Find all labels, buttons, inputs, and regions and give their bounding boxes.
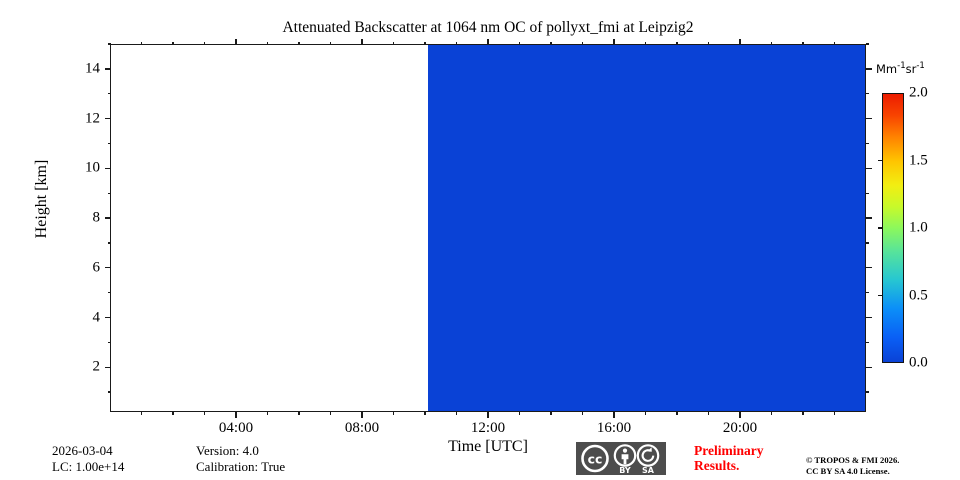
y-axis-tick-right [866, 118, 872, 119]
x-axis-tick [771, 412, 772, 416]
x-axis-tick [235, 412, 236, 418]
y-axis-tick-right [866, 267, 872, 268]
figure-canvas: Attenuated Backscatter at 1064 nm OC of … [0, 0, 960, 480]
x-axis-tick [393, 412, 394, 416]
x-axis-tick-top [708, 42, 709, 46]
x-axis-tick-label: 04:00 [219, 420, 253, 437]
x-axis-tick-top [456, 42, 457, 46]
colorbar-tick [878, 227, 883, 228]
y-axis-tick [108, 43, 112, 44]
x-axis-tick-top [645, 42, 646, 46]
heatmap-region-no-data [111, 45, 428, 411]
plot-area[interactable] [110, 44, 866, 412]
colorbar-tick [878, 160, 883, 161]
colorbar-tick-label: 2.0 [909, 85, 928, 102]
x-axis-tick-top [550, 42, 551, 46]
colorbar-tick-label: 0.0 [909, 355, 928, 372]
colorbar-unit-label: Mm-1sr-1 [876, 61, 925, 76]
x-axis-tick-label: 20:00 [723, 420, 757, 437]
y-axis-tick [105, 68, 111, 69]
y-axis-tick [105, 118, 111, 119]
y-axis-tick-right [866, 68, 872, 69]
colorbar[interactable] [882, 93, 904, 363]
page-title: Attenuated Backscatter at 1064 nm OC of … [110, 19, 866, 37]
x-axis-tick [141, 412, 142, 416]
copyright-line-1: © TROPOS & FMI 2026. [806, 455, 899, 466]
y-axis-tick [108, 93, 112, 94]
y-axis-tick [108, 193, 112, 194]
x-axis-tick-top [424, 42, 425, 46]
heatmap-region-measured-signal [428, 45, 866, 411]
colorbar-tick-label: 0.5 [909, 287, 928, 304]
x-axis-tick-top [361, 39, 362, 45]
x-axis-tick-top [613, 39, 614, 45]
x-axis-tick-top [487, 39, 488, 45]
y-axis-label: Height [km] [33, 119, 51, 279]
preliminary-line-1: Preliminary [694, 443, 763, 458]
x-axis-tick [708, 412, 709, 416]
y-axis-tick-label: 12 [52, 110, 100, 127]
x-axis-tick-top [834, 42, 835, 46]
x-axis-tick [582, 412, 583, 416]
y-axis-tick-label: 6 [52, 259, 100, 276]
colorbar-tick [878, 295, 883, 296]
x-axis-tick [487, 412, 488, 418]
x-axis-tick-top [802, 42, 803, 46]
x-axis-tick-top [204, 42, 205, 46]
y-axis-tick-right [866, 193, 870, 194]
x-axis-tick-top [739, 39, 740, 45]
x-axis-tick [456, 412, 457, 416]
x-axis-tick-top [393, 42, 394, 46]
cc-by-sa-license-badge: cc BY SA [576, 442, 666, 475]
y-axis-tick-label: 4 [52, 309, 100, 326]
y-axis-tick [105, 317, 111, 318]
footer-lidar-constant: LC: 1.00e+14 [52, 459, 124, 475]
x-axis-tick [645, 412, 646, 416]
y-axis-tick [105, 168, 111, 169]
y-axis-tick-right [866, 43, 870, 44]
x-axis-tick-top [771, 42, 772, 46]
svg-text:SA: SA [642, 466, 655, 475]
x-axis-tick [550, 412, 551, 416]
y-axis-tick [108, 391, 112, 392]
x-axis-tick [739, 412, 740, 418]
y-axis-tick [105, 367, 111, 368]
x-axis-tick-top [172, 42, 173, 46]
y-axis-tick-right [866, 168, 872, 169]
x-axis-tick-top [519, 42, 520, 46]
x-axis-tick-top [330, 42, 331, 46]
x-axis-tick [330, 412, 331, 416]
footer-calibration: Calibration: True [196, 459, 285, 475]
y-axis-tick [108, 292, 112, 293]
x-axis-tick-label: 16:00 [597, 420, 631, 437]
svg-text:cc: cc [588, 452, 603, 467]
x-axis-tick [676, 412, 677, 416]
colorbar-tick-label: 1.0 [909, 220, 928, 237]
y-axis-tick [105, 267, 111, 268]
y-axis-tick-right [866, 317, 872, 318]
footer-version: Version: 4.0 [196, 443, 259, 459]
x-axis-tick [172, 412, 173, 416]
x-axis-tick [267, 412, 268, 416]
x-axis-tick [519, 412, 520, 416]
colorbar-unit-mm: Mm [876, 62, 897, 76]
x-axis-tick [298, 412, 299, 416]
svg-text:BY: BY [619, 466, 631, 475]
y-axis-tick-right [866, 367, 872, 368]
y-axis-tick [105, 217, 111, 218]
preliminary-line-2: Results. [694, 458, 763, 473]
y-axis-tick-label: 14 [52, 60, 100, 77]
footer-date: 2026-03-04 [52, 443, 113, 459]
x-axis-tick-top [235, 39, 236, 45]
preliminary-results-notice: Preliminary Results. [694, 443, 763, 473]
colorbar-unit-exp1: -1 [897, 61, 905, 71]
y-axis-tick-right [866, 292, 870, 293]
y-axis-tick-right [866, 342, 870, 343]
x-axis-tick-label: 08:00 [345, 420, 379, 437]
copyright-notice: © TROPOS & FMI 2026. CC BY SA 4.0 Licens… [806, 455, 899, 477]
y-axis-tick-right [866, 242, 870, 243]
x-axis-tick-top [676, 42, 677, 46]
y-axis-tick-right [866, 143, 870, 144]
y-axis-tick [108, 242, 112, 243]
x-axis-tick [834, 412, 835, 416]
x-axis-tick-top [267, 42, 268, 46]
copyright-line-2: CC BY SA 4.0 License. [806, 466, 899, 477]
x-axis-tick [424, 412, 425, 416]
y-axis-tick-label: 10 [52, 160, 100, 177]
colorbar-tick-label: 1.5 [909, 152, 928, 169]
y-axis-tick [108, 143, 112, 144]
cc-by-sa-icon: cc BY SA [576, 442, 666, 475]
x-axis-tick-label: 12:00 [471, 420, 505, 437]
x-axis-tick-top [582, 42, 583, 46]
x-axis-tick [802, 412, 803, 416]
y-axis-tick-label: 2 [52, 359, 100, 376]
y-axis-tick [108, 342, 112, 343]
colorbar-unit-exp2: -1 [916, 61, 924, 71]
x-axis-tick-top [298, 42, 299, 46]
heatmap-data-layer [111, 45, 865, 411]
x-axis-tick-top [141, 42, 142, 46]
y-axis-tick-right [866, 93, 870, 94]
colorbar-unit-sr: sr [906, 62, 917, 76]
colorbar-gradient [882, 93, 904, 363]
y-axis-tick-right [866, 217, 872, 218]
x-axis-tick [613, 412, 614, 418]
y-axis-tick-right [866, 391, 870, 392]
y-axis-tick-label: 8 [52, 210, 100, 227]
x-axis-tick [361, 412, 362, 418]
x-axis-tick [204, 412, 205, 416]
